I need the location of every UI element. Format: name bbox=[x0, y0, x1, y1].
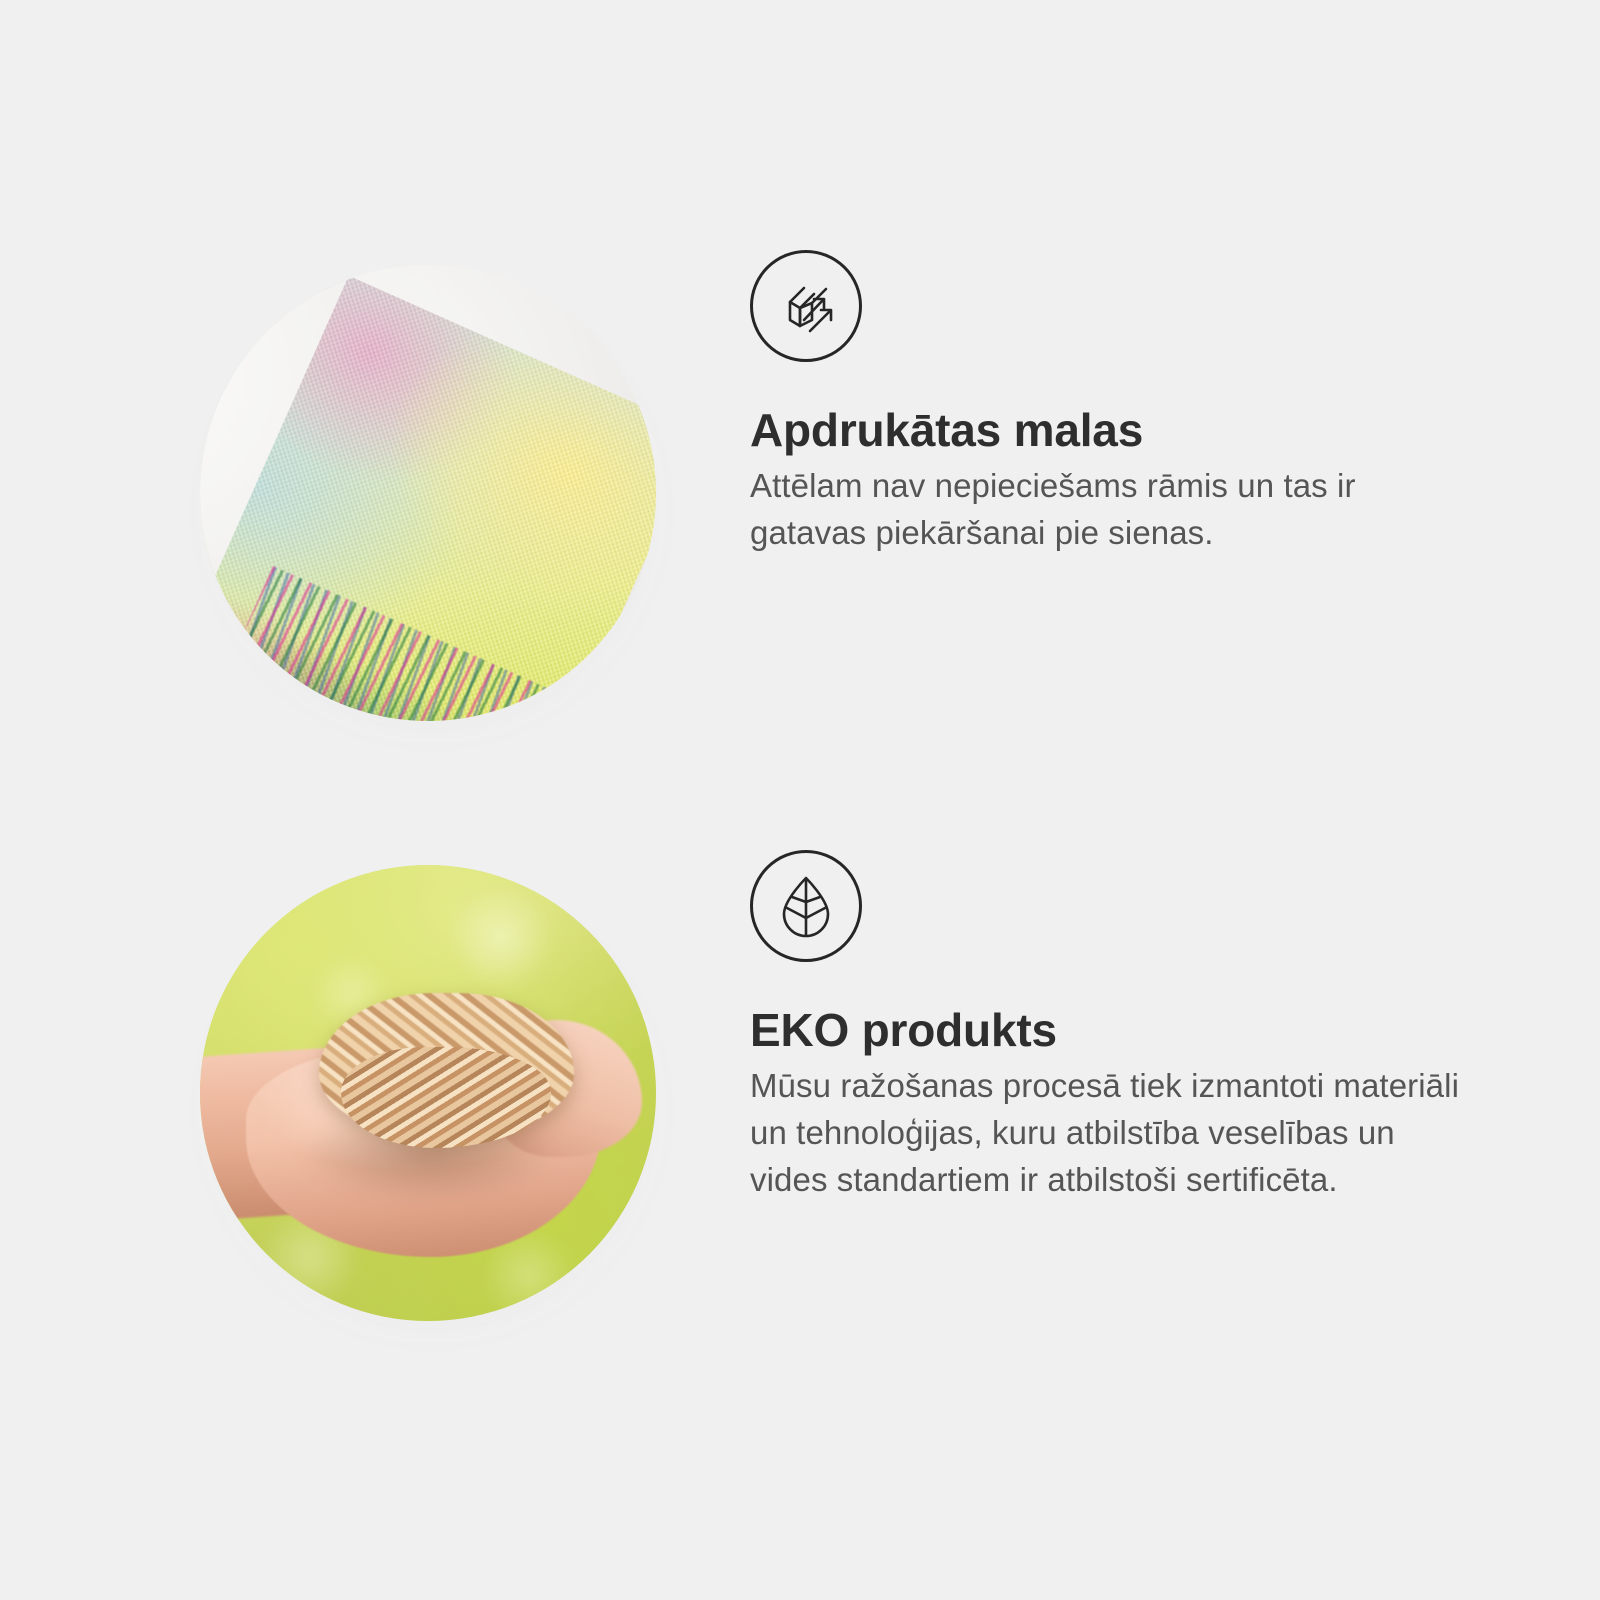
printed-edges-icon-glyph bbox=[770, 270, 842, 342]
feature-title: EKO produkts bbox=[750, 1004, 1490, 1057]
printed-edges-icon bbox=[750, 250, 862, 362]
hand-with-wood-chips-photo bbox=[200, 865, 656, 1321]
leaf-icon-glyph bbox=[772, 872, 840, 940]
feature-info-printed-edges: Apdrukātas malas Attēlam nav nepieciešam… bbox=[750, 250, 1490, 557]
feature-image-printed-edges bbox=[200, 265, 656, 721]
feature-info-eco-product: EKO produkts Mūsu ražošanas procesā tiek… bbox=[750, 850, 1490, 1203]
leaf-icon bbox=[750, 850, 862, 962]
feature-description: Attēlam nav nepieciešams rāmis un tas ir… bbox=[750, 463, 1460, 557]
feature-description: Mūsu ražošanas procesā tiek izmantoti ma… bbox=[750, 1063, 1460, 1204]
feature-image-eco-product bbox=[200, 865, 656, 1321]
feature-block-eco-product: EKO produkts Mūsu ražošanas procesā tiek… bbox=[0, 850, 1600, 1350]
feature-block-printed-edges: Apdrukātas malas Attēlam nav nepieciešam… bbox=[0, 250, 1600, 750]
product-features-page: Apdrukātas malas Attēlam nav nepieciešam… bbox=[0, 0, 1600, 1600]
canvas-print-corner-photo bbox=[200, 265, 656, 721]
feature-title: Apdrukātas malas bbox=[750, 404, 1490, 457]
